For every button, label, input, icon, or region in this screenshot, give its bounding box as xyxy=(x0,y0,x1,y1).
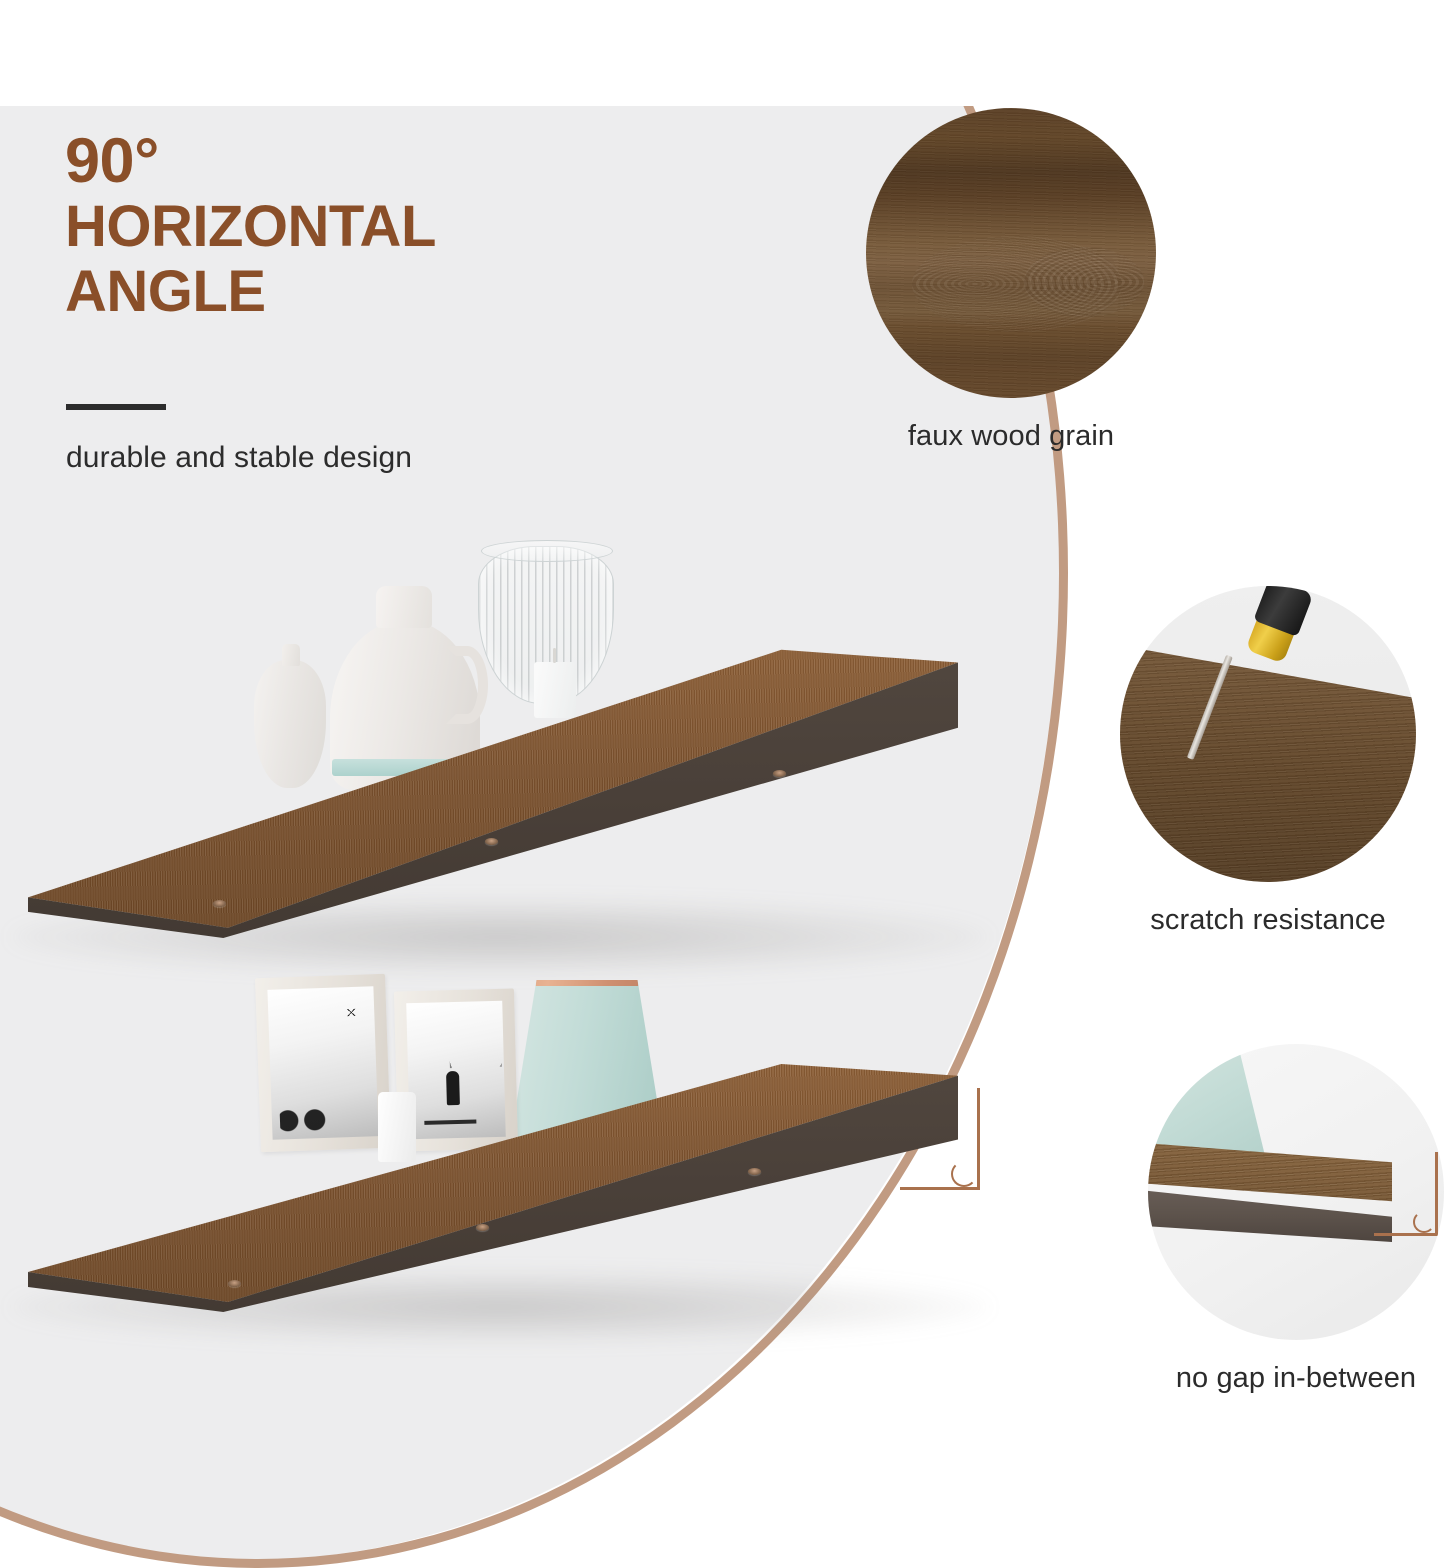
callout-label-no-gap-in-between: no gap in-between xyxy=(1148,1362,1444,1395)
lower-shelf-screw-left xyxy=(228,1280,241,1287)
tree-photo-icon xyxy=(448,1005,502,1068)
angle-marker-vertical-line xyxy=(977,1088,980,1190)
callout-scratch-resistance: scratch resistance xyxy=(1120,586,1416,882)
lower-shelf-screw-right xyxy=(748,1168,761,1175)
callout-no-gap-in-between: no gap in-between xyxy=(1148,1044,1444,1340)
angle-marker-arc xyxy=(951,1161,977,1187)
callout-angle-vertical-line xyxy=(1435,1152,1438,1236)
upper-shelf-top-surface xyxy=(28,648,958,938)
headline-subtitle: durable and stable design xyxy=(66,441,412,475)
scratch-resistance-photo xyxy=(1120,586,1416,882)
upper-shelf-screw-right xyxy=(773,770,786,777)
background-arc-top-mask xyxy=(0,0,1445,106)
callout-angle-marker-icon xyxy=(1374,1152,1438,1236)
lower-floating-shelf xyxy=(28,1062,958,1312)
ninety-degree-angle-marker-icon xyxy=(900,1088,980,1190)
callout-label-scratch-resistance: scratch resistance xyxy=(1120,904,1416,937)
headline-line-2: HORIZONTAL xyxy=(65,195,685,260)
upper-shelf-screw-mid xyxy=(485,838,498,845)
callout-angle-arc xyxy=(1413,1211,1435,1233)
product-infographic-stage: 90° HORIZONTAL ANGLE durable and stable … xyxy=(0,0,1445,1500)
jug-neck xyxy=(376,586,432,628)
angle-marker-horizontal-line xyxy=(900,1187,980,1190)
headline-block: 90° HORIZONTAL ANGLE xyxy=(65,128,685,325)
wood-grain-swatch-icon xyxy=(866,108,1156,398)
callout-label-faux-wood-grain: faux wood grain xyxy=(866,420,1156,453)
bird-photo-icon xyxy=(344,1009,358,1016)
lower-shelf-screw-mid xyxy=(476,1224,489,1231)
lower-shelf-top-surface xyxy=(28,1062,958,1312)
callout-faux-wood-grain: faux wood grain xyxy=(866,108,1156,398)
upper-shelf-screw-left xyxy=(213,900,226,907)
headline-divider xyxy=(66,404,166,410)
upper-floating-shelf xyxy=(28,648,958,938)
headline-line-1: 90° xyxy=(65,128,685,195)
shelf-edge-angle-icon xyxy=(1148,1044,1444,1340)
headline-line-3: ANGLE xyxy=(65,260,685,325)
callout-angle-horizontal-line xyxy=(1374,1233,1438,1236)
glass-vase-rim xyxy=(481,540,613,562)
wood-knot-pattern-secondary xyxy=(1024,247,1144,317)
